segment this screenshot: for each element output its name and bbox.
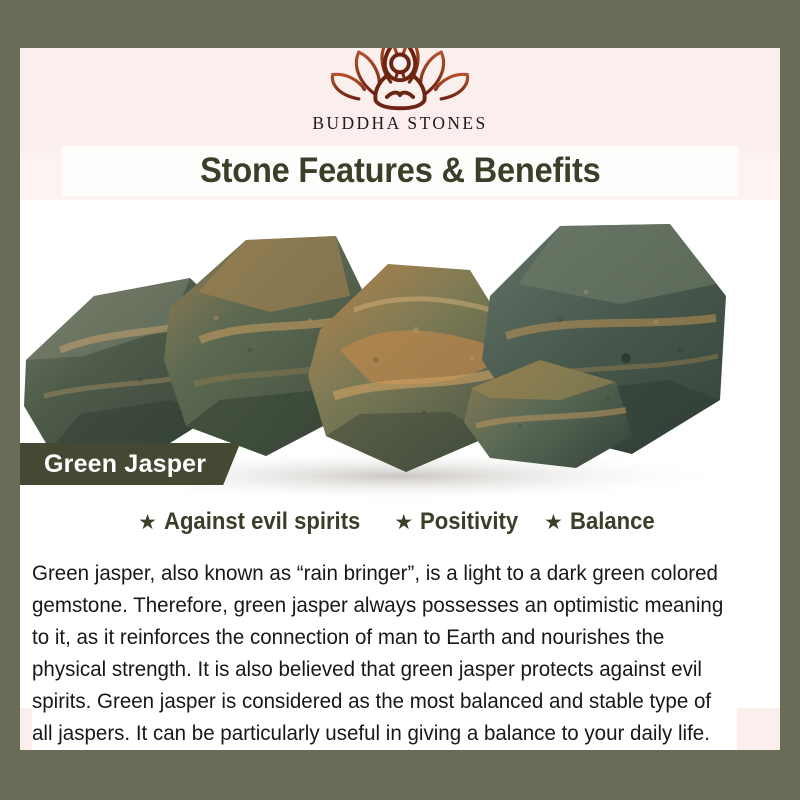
star-icon: ★ [138, 512, 157, 533]
page-title-band: Stone Features & Benefits [62, 146, 738, 196]
benefit-item: ★ Balance [544, 508, 662, 536]
benefit-item: ★ Positivity [394, 508, 527, 536]
frame-border-bottom [0, 750, 800, 800]
star-icon: ★ [394, 512, 413, 533]
star-icon: ★ [544, 512, 563, 533]
brand-name: BUDDHA STONES [312, 113, 487, 134]
stone-info-poster: BUDDHA STONES Stone Features & Benefits [0, 0, 800, 800]
benefit-label: Against evil spirits [164, 508, 360, 536]
benefits-row: ★ Against evil spirits ★ Positivity ★ Ba… [20, 508, 780, 536]
lotus-meditation-icon [316, 48, 484, 112]
benefit-label: Balance [570, 508, 655, 536]
brand-header: BUDDHA STONES [20, 48, 780, 153]
poster-page: BUDDHA STONES Stone Features & Benefits [20, 48, 780, 750]
frame-border-top [0, 0, 800, 48]
frame-border-right [780, 0, 800, 800]
stone-name: Green Jasper [44, 450, 206, 479]
stone-name-banner: Green Jasper [20, 443, 240, 485]
brand-logo: BUDDHA STONES [20, 48, 780, 134]
frame-border-left [0, 200, 20, 800]
page-title: Stone Features & Benefits [200, 151, 601, 191]
stone-description: Green jasper, also known as “rain bringe… [32, 553, 737, 750]
benefit-item: ★ Against evil spirits [138, 508, 377, 536]
benefit-label: Positivity [420, 508, 518, 536]
